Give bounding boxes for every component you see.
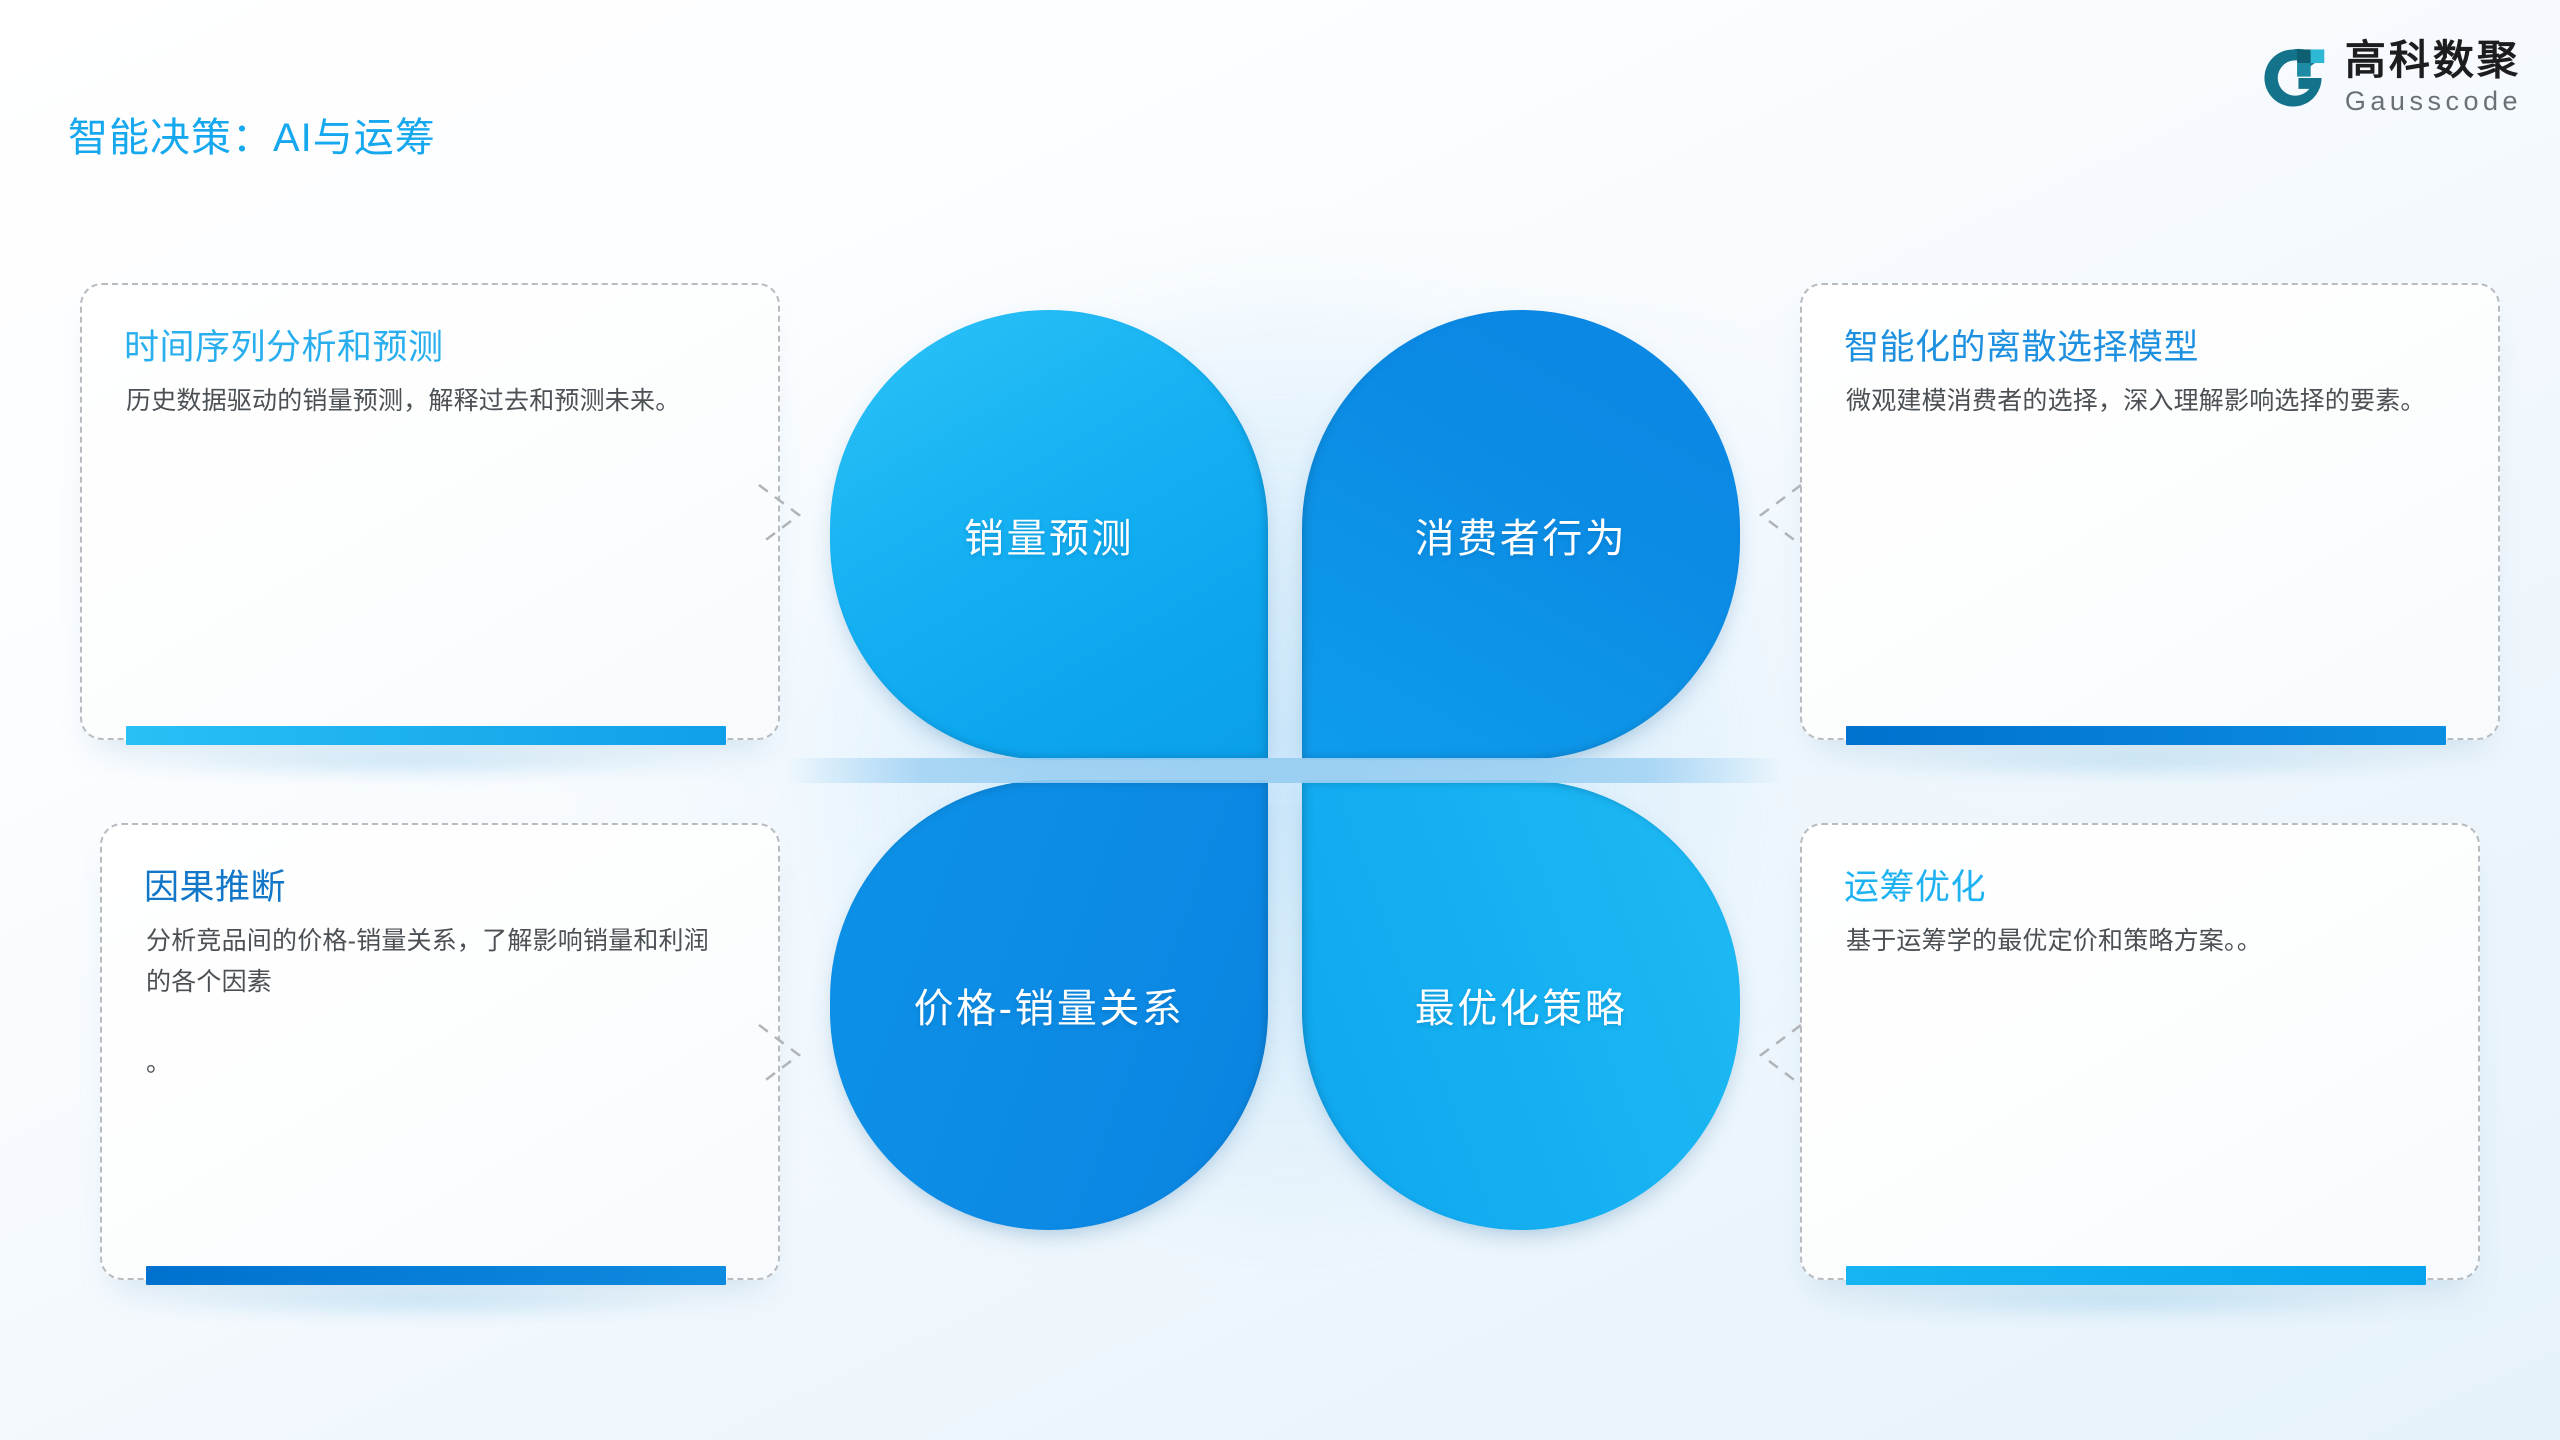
petal-label: 销量预测 [964,506,1134,564]
petal-consumer-behavior[interactable]: 消费者行为 [1302,310,1740,760]
logo-text-block: 高科数聚 Gausscode [2345,40,2522,115]
petal-label: 最优化策略 [1415,976,1628,1034]
card-discrete-choice[interactable]: 智能化的离散选择模型 微观建模消费者的选择，深入理解影响选择的要素。 [1800,283,2500,740]
petal-label: 消费者行为 [1415,506,1628,564]
card-glow [1830,742,2440,780]
page-title: 智能决策：AI与运筹 [68,105,436,163]
brand-logo: 高科数聚 Gausscode [2259,40,2522,115]
petal-label: 价格-销量关系 [914,976,1185,1034]
petal-sales-forecast[interactable]: 销量预测 [830,310,1268,760]
card-glow [110,742,720,780]
card-body: 分析竞品间的价格-销量关系，了解影响销量和利润的各个因素 。 [146,921,731,1083]
gausscode-logo-icon [2259,44,2327,112]
logo-name-en: Gausscode [2345,88,2522,115]
card-accent-bar [146,1266,726,1285]
card-body: 基于运筹学的最优定价和策略方案。。 [1846,921,2431,962]
card-accent-bar [126,726,726,745]
card-title: 因果推断 [144,859,286,910]
logo-name-cn: 高科数聚 [2345,40,2522,81]
petal-optimization-strategy[interactable]: 最优化策略 [1302,780,1740,1230]
card-body: 微观建模消费者的选择，深入理解影响选择的要素。 [1846,381,2431,422]
card-causal-inference[interactable]: 因果推断 分析竞品间的价格-销量关系，了解影响销量和利润的各个因素 。 [100,823,780,1280]
petal-diagram: 销量预测 消费者行为 价格-销量关系 最优化策略 [830,310,1740,1230]
card-time-series[interactable]: 时间序列分析和预测 历史数据驱动的销量预测，解释过去和预测未来。 [80,283,780,740]
card-title: 运筹优化 [1844,859,1986,910]
slide-canvas: 智能决策：AI与运筹 高科数聚 Gausscode 销量预测 消费者行为 价格-… [0,0,2560,1440]
card-accent-bar [1846,726,2446,745]
card-body: 历史数据驱动的销量预测，解释过去和预测未来。 [126,381,711,422]
card-title: 智能化的离散选择模型 [1844,319,2199,370]
chevron-left-icon [1757,1023,1803,1087]
card-glow [1830,1282,2420,1320]
card-operations-research[interactable]: 运筹优化 基于运筹学的最优定价和策略方案。。 [1800,823,2480,1280]
petal-price-sales-relation[interactable]: 价格-销量关系 [830,780,1268,1230]
chevron-left-icon [1757,483,1803,547]
card-title: 时间序列分析和预测 [124,319,444,370]
card-glow [130,1282,720,1320]
card-accent-bar [1846,1266,2426,1285]
